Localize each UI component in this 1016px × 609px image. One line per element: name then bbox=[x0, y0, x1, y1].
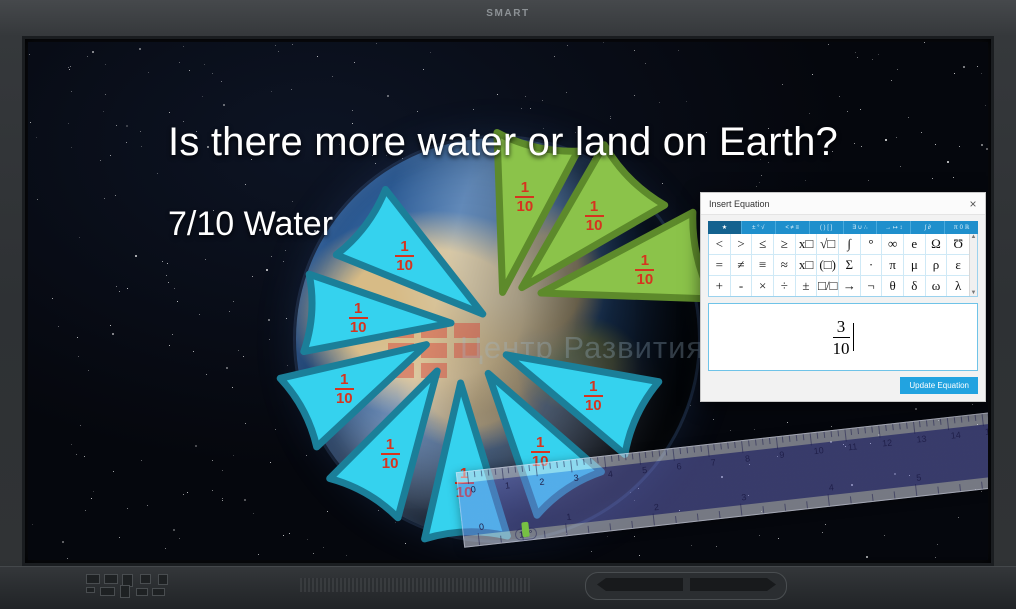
star bbox=[634, 50, 635, 51]
star bbox=[473, 109, 474, 110]
star bbox=[115, 195, 116, 196]
star bbox=[169, 345, 170, 346]
star bbox=[269, 339, 270, 340]
symbol-cell[interactable]: · bbox=[861, 255, 883, 276]
star bbox=[116, 286, 117, 287]
symbol-cell[interactable]: ÷ bbox=[774, 276, 796, 296]
star bbox=[221, 81, 222, 82]
star bbox=[233, 455, 234, 456]
star bbox=[253, 513, 254, 514]
symbol-cell[interactable]: × bbox=[752, 276, 774, 296]
star bbox=[169, 112, 170, 113]
star bbox=[275, 429, 276, 430]
star bbox=[110, 325, 111, 326]
star bbox=[861, 146, 862, 147]
star bbox=[981, 144, 983, 146]
dialog-body: ★± ° √< ≠ ≡( ) [ ]∃ ∪ ∴→ ↦ ↕∫ ∂π 0 ℝ <>≤… bbox=[701, 215, 985, 401]
star bbox=[822, 532, 823, 533]
star bbox=[868, 180, 869, 181]
star bbox=[542, 100, 543, 101]
aux-port[interactable] bbox=[152, 588, 165, 596]
star bbox=[645, 63, 646, 64]
star bbox=[691, 545, 692, 546]
equation-numerator: 3 bbox=[833, 318, 850, 335]
star bbox=[174, 288, 175, 289]
star bbox=[177, 301, 178, 302]
star bbox=[713, 419, 714, 420]
symbol-cell[interactable]: ω bbox=[926, 276, 948, 296]
star bbox=[222, 470, 223, 471]
star bbox=[554, 56, 555, 57]
star bbox=[809, 113, 810, 114]
star bbox=[287, 365, 288, 366]
star bbox=[327, 511, 328, 512]
star bbox=[985, 105, 986, 106]
status-led bbox=[86, 587, 95, 593]
star bbox=[676, 222, 677, 223]
equation-input[interactable]: 3 10 bbox=[708, 303, 978, 371]
symbol-cell[interactable]: Ω bbox=[926, 234, 948, 255]
star bbox=[52, 298, 53, 299]
symbol-cell[interactable]: - bbox=[731, 276, 753, 296]
symbol-cell[interactable]: θ bbox=[882, 276, 904, 296]
star bbox=[405, 543, 406, 544]
star bbox=[354, 62, 355, 63]
symbol-cell[interactable]: ≡ bbox=[752, 255, 774, 276]
symbol-tab-3[interactable]: ( ) [ ] bbox=[810, 221, 844, 234]
star bbox=[915, 408, 917, 410]
star bbox=[662, 183, 663, 184]
star bbox=[229, 311, 230, 312]
star bbox=[37, 199, 38, 200]
symbol-cell[interactable]: ρ bbox=[926, 255, 948, 276]
star bbox=[638, 488, 639, 489]
star bbox=[721, 476, 723, 478]
star bbox=[497, 94, 498, 95]
star bbox=[212, 460, 213, 461]
star bbox=[172, 334, 173, 335]
star bbox=[244, 499, 246, 501]
star bbox=[71, 147, 72, 148]
symbol-tab-7[interactable]: π 0 ℝ bbox=[945, 221, 978, 234]
help-button[interactable] bbox=[158, 574, 168, 585]
star bbox=[245, 423, 246, 424]
symbol-cell[interactable]: x□ bbox=[796, 255, 818, 276]
star bbox=[286, 318, 287, 319]
symbol-cell[interactable]: □/□ bbox=[817, 276, 839, 296]
star bbox=[166, 275, 167, 276]
star bbox=[935, 557, 936, 558]
star bbox=[566, 92, 567, 93]
star bbox=[932, 178, 933, 179]
star bbox=[634, 500, 635, 501]
star bbox=[168, 282, 169, 283]
star bbox=[866, 556, 868, 558]
star bbox=[332, 76, 333, 77]
symbol-cell[interactable]: δ bbox=[904, 276, 926, 296]
star bbox=[110, 155, 111, 156]
symbol-cell[interactable]: ≤ bbox=[752, 234, 774, 255]
star bbox=[805, 180, 806, 181]
star bbox=[127, 508, 128, 509]
star bbox=[30, 122, 31, 123]
equation-fraction: 3 10 bbox=[833, 318, 850, 357]
star bbox=[148, 72, 149, 73]
star bbox=[830, 441, 832, 443]
star bbox=[223, 104, 225, 106]
symbol-category-tabs[interactable]: ★± ° √< ≠ ≡( ) [ ]∃ ∪ ∴→ ↦ ↕∫ ∂π 0 ℝ bbox=[708, 221, 978, 234]
star bbox=[77, 337, 78, 338]
star bbox=[252, 276, 253, 277]
star bbox=[105, 64, 106, 65]
star bbox=[307, 539, 308, 540]
star bbox=[567, 45, 568, 46]
star bbox=[754, 429, 755, 430]
star bbox=[320, 444, 321, 445]
insert-equation-dialog[interactable]: Insert Equation × ★± ° √< ≠ ≡( ) [ ]∃ ∪ … bbox=[700, 192, 986, 402]
star bbox=[193, 351, 194, 352]
star bbox=[165, 548, 166, 549]
star bbox=[292, 44, 293, 45]
star bbox=[884, 535, 885, 536]
star bbox=[32, 524, 33, 525]
star bbox=[566, 533, 567, 534]
star bbox=[70, 66, 71, 67]
star bbox=[896, 137, 897, 138]
star bbox=[126, 125, 128, 127]
star bbox=[238, 350, 239, 351]
scroll-down-icon[interactable]: ▼ bbox=[970, 290, 977, 296]
star bbox=[843, 444, 844, 445]
symbol-cell[interactable]: ≥ bbox=[774, 234, 796, 255]
symbol-cell[interactable]: ε bbox=[947, 255, 969, 276]
star bbox=[639, 555, 640, 556]
star bbox=[778, 538, 779, 539]
symbol-cell[interactable]: ∞ bbox=[882, 234, 904, 255]
star bbox=[275, 45, 276, 46]
star bbox=[634, 536, 635, 537]
star bbox=[226, 367, 228, 369]
star bbox=[690, 405, 691, 406]
star bbox=[313, 553, 314, 554]
star bbox=[759, 182, 760, 183]
star bbox=[202, 96, 203, 97]
star bbox=[323, 547, 324, 548]
star bbox=[851, 484, 853, 486]
star bbox=[839, 96, 840, 97]
symbol-cell[interactable]: + bbox=[709, 276, 731, 296]
star bbox=[860, 109, 861, 110]
star bbox=[206, 374, 207, 375]
audio-port[interactable] bbox=[136, 588, 148, 596]
star bbox=[71, 91, 72, 92]
star bbox=[376, 43, 377, 44]
star bbox=[378, 510, 379, 511]
star bbox=[126, 142, 127, 143]
star bbox=[292, 201, 293, 202]
update-equation-button[interactable]: Update Equation bbox=[900, 377, 978, 394]
star bbox=[157, 173, 158, 174]
star bbox=[352, 110, 353, 111]
symbol-cell[interactable]: = bbox=[709, 255, 731, 276]
star bbox=[271, 256, 272, 257]
star bbox=[103, 111, 104, 112]
slide-title: Is there more water or land on Earth? bbox=[168, 120, 838, 165]
star bbox=[963, 66, 965, 68]
star bbox=[845, 446, 846, 447]
star bbox=[909, 475, 910, 476]
star bbox=[938, 420, 939, 421]
star bbox=[135, 255, 137, 257]
symbol-cell[interactable]: ≈ bbox=[774, 255, 796, 276]
star bbox=[782, 84, 783, 85]
star bbox=[87, 56, 88, 57]
star bbox=[749, 464, 750, 465]
star bbox=[716, 546, 717, 547]
star bbox=[62, 541, 64, 543]
red-annotation-grid bbox=[388, 323, 480, 379]
star bbox=[679, 510, 680, 511]
star bbox=[812, 74, 813, 75]
star bbox=[759, 535, 760, 536]
star bbox=[953, 177, 954, 178]
star bbox=[283, 535, 284, 536]
star bbox=[317, 56, 318, 57]
star bbox=[935, 144, 936, 145]
star bbox=[36, 137, 37, 138]
star bbox=[285, 250, 286, 251]
star bbox=[387, 95, 389, 97]
star bbox=[686, 101, 687, 102]
symbol-cell[interactable]: ± bbox=[796, 276, 818, 296]
star bbox=[291, 89, 292, 90]
star bbox=[975, 489, 976, 490]
dialog-title-label: Insert Equation bbox=[709, 199, 965, 209]
star bbox=[761, 175, 762, 176]
smart-brand-logo: SMART bbox=[0, 8, 1016, 19]
star bbox=[71, 444, 72, 445]
star bbox=[76, 454, 77, 455]
star bbox=[748, 495, 749, 496]
star bbox=[730, 430, 731, 431]
star bbox=[245, 184, 246, 185]
star bbox=[697, 287, 698, 288]
star bbox=[100, 160, 101, 161]
usb-port[interactable] bbox=[100, 587, 115, 596]
symbol-cell[interactable]: > bbox=[731, 234, 753, 255]
symbol-cell[interactable]: Σ bbox=[839, 255, 861, 276]
symbol-tab-1[interactable]: ± ° √ bbox=[742, 221, 776, 234]
star bbox=[977, 66, 978, 67]
star bbox=[908, 117, 909, 118]
star bbox=[977, 424, 978, 425]
star bbox=[521, 108, 522, 109]
star bbox=[870, 443, 871, 444]
star bbox=[105, 94, 106, 95]
symbol-cell[interactable]: π bbox=[882, 255, 904, 276]
star bbox=[29, 54, 30, 55]
star bbox=[937, 544, 938, 545]
star bbox=[293, 375, 294, 376]
symbol-cell[interactable]: → bbox=[839, 276, 861, 296]
smart-board-device: SMART Центр Развития.ру bbox=[0, 0, 1016, 608]
earth-terminator-shadow bbox=[296, 138, 698, 540]
star bbox=[591, 551, 592, 552]
star bbox=[119, 291, 120, 292]
star bbox=[530, 108, 531, 109]
star bbox=[67, 558, 68, 559]
symbol-palette[interactable]: <>≤≥x□√□∫°∞eΩƱ=≠≡≈x□(□)Σ·πμρε+-×÷±□/□→¬θ… bbox=[708, 234, 978, 297]
star bbox=[212, 490, 213, 491]
star bbox=[141, 146, 142, 147]
power-button[interactable] bbox=[86, 574, 100, 584]
star bbox=[872, 59, 873, 60]
star bbox=[112, 333, 114, 335]
star bbox=[847, 111, 848, 112]
star bbox=[855, 52, 856, 53]
star bbox=[678, 50, 679, 51]
equation-denominator: 10 bbox=[833, 340, 850, 357]
star bbox=[894, 473, 896, 475]
stylus-pen-right[interactable] bbox=[690, 578, 776, 591]
symbol-cell[interactable]: ≠ bbox=[731, 255, 753, 276]
input-button[interactable] bbox=[104, 574, 118, 584]
close-icon[interactable]: × bbox=[965, 196, 981, 212]
star bbox=[119, 537, 120, 538]
star bbox=[283, 261, 284, 262]
star bbox=[104, 198, 105, 199]
symbol-tab-5[interactable]: → ↦ ↕ bbox=[877, 221, 911, 234]
star bbox=[610, 116, 611, 117]
star bbox=[659, 102, 660, 103]
star bbox=[80, 425, 81, 426]
star bbox=[525, 96, 526, 97]
star bbox=[947, 161, 949, 163]
star bbox=[924, 42, 925, 43]
dialog-title-bar[interactable]: Insert Equation × bbox=[701, 193, 985, 215]
earth-globe-image bbox=[296, 138, 698, 540]
star bbox=[68, 123, 69, 124]
star bbox=[183, 494, 184, 495]
text-caret bbox=[853, 323, 854, 351]
symbol-cells[interactable]: <>≤≥x□√□∫°∞eΩƱ=≠≡≈x□(□)Σ·πμρε+-×÷±□/□→¬θ… bbox=[709, 234, 969, 296]
star bbox=[183, 46, 184, 47]
scroll-up-icon[interactable]: ▲ bbox=[970, 234, 977, 240]
star bbox=[634, 95, 635, 96]
star bbox=[232, 387, 233, 388]
star bbox=[113, 471, 114, 472]
star bbox=[167, 263, 168, 264]
symbol-cell[interactable]: √□ bbox=[817, 234, 839, 255]
symbol-cell[interactable]: Ʊ bbox=[947, 234, 969, 255]
star bbox=[787, 422, 788, 423]
star bbox=[986, 148, 988, 150]
equation-fraction-bar bbox=[833, 337, 850, 338]
star bbox=[777, 456, 778, 457]
star bbox=[268, 319, 270, 321]
star bbox=[141, 460, 142, 461]
symbol-cell[interactable]: x□ bbox=[796, 234, 818, 255]
star bbox=[825, 524, 826, 525]
symbol-tab-4[interactable]: ∃ ∪ ∴ bbox=[844, 221, 878, 234]
star bbox=[84, 456, 85, 457]
symbol-tab-2[interactable]: < ≠ ≡ bbox=[776, 221, 810, 234]
star bbox=[430, 52, 431, 53]
star bbox=[831, 426, 832, 427]
star bbox=[603, 42, 604, 43]
star bbox=[897, 69, 898, 70]
star bbox=[68, 67, 69, 68]
star bbox=[954, 73, 955, 74]
star bbox=[222, 500, 223, 501]
symbol-cell[interactable]: (□) bbox=[817, 255, 839, 276]
star bbox=[205, 259, 206, 260]
star bbox=[271, 91, 272, 92]
star bbox=[857, 57, 858, 58]
star bbox=[958, 517, 959, 518]
star bbox=[88, 370, 89, 371]
lesson-slide: Центр Развития.ру 1 10 1 10 bbox=[28, 42, 988, 560]
symbol-cell[interactable]: μ bbox=[904, 255, 926, 276]
star bbox=[981, 73, 982, 74]
symbol-cell[interactable]: ° bbox=[861, 234, 883, 255]
dialog-footer: Update Equation bbox=[708, 377, 978, 394]
symbol-cell[interactable]: e bbox=[904, 234, 926, 255]
star bbox=[266, 269, 268, 271]
star bbox=[607, 536, 608, 537]
symbol-cell[interactable]: ∫ bbox=[839, 234, 861, 255]
star bbox=[199, 314, 200, 315]
star bbox=[828, 44, 829, 45]
left-speaker-grille bbox=[300, 578, 530, 592]
star bbox=[92, 51, 94, 53]
star bbox=[610, 118, 611, 119]
star bbox=[243, 356, 244, 357]
slide-subtitle: 7/10 Water bbox=[168, 205, 333, 244]
star bbox=[270, 462, 271, 463]
star bbox=[761, 511, 762, 512]
control-button-pad[interactable] bbox=[86, 574, 204, 596]
star bbox=[854, 143, 855, 144]
star bbox=[900, 166, 901, 167]
symbol-tab-6[interactable]: ∫ ∂ bbox=[911, 221, 945, 234]
star bbox=[187, 492, 188, 493]
star bbox=[981, 491, 982, 492]
stylus-pen-left[interactable] bbox=[597, 578, 683, 591]
hdmi-port[interactable] bbox=[120, 585, 130, 598]
symbol-cell[interactable]: < bbox=[709, 234, 731, 255]
star bbox=[395, 522, 396, 523]
top-bezel: SMART bbox=[0, 0, 1016, 38]
star bbox=[78, 356, 79, 357]
star bbox=[127, 288, 128, 289]
star bbox=[79, 237, 80, 238]
display-screen[interactable]: Центр Развития.ру 1 10 1 10 bbox=[28, 42, 988, 560]
star bbox=[346, 555, 347, 556]
symbol-cell[interactable]: λ bbox=[947, 276, 969, 296]
star bbox=[189, 70, 190, 71]
symbol-cell[interactable]: ¬ bbox=[861, 276, 883, 296]
star bbox=[204, 64, 205, 65]
star bbox=[162, 261, 163, 262]
symbol-scrollbar[interactable]: ▲ ▼ bbox=[969, 234, 977, 296]
star bbox=[417, 111, 418, 112]
volume-button[interactable] bbox=[140, 574, 151, 584]
star bbox=[116, 125, 117, 126]
star bbox=[972, 404, 973, 405]
symbol-tab-0[interactable]: ★ bbox=[708, 221, 742, 234]
star bbox=[69, 69, 70, 70]
